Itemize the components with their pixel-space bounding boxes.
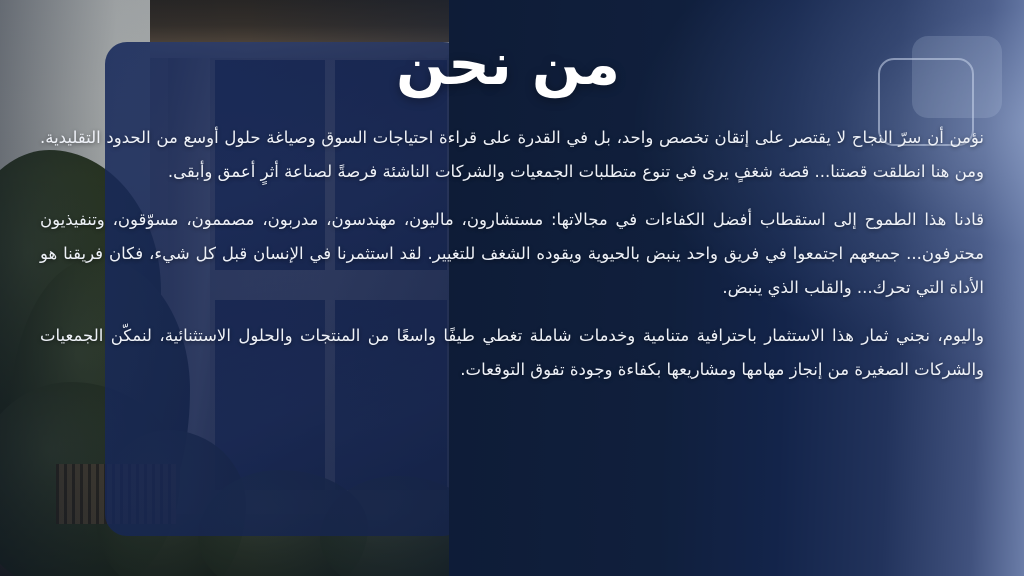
paragraph-3: واليوم، نجني ثمار هذا الاستثمار باحترافي… (40, 319, 984, 387)
paragraph-1: نؤمن أن سرّ النجاح لا يقتصر على إتقان تخ… (40, 121, 984, 189)
slide-content: من نحن نؤمن أن سرّ النجاح لا يقتصر على إ… (0, 0, 1024, 576)
slide-about-us: من نحن نؤمن أن سرّ النجاح لا يقتصر على إ… (0, 0, 1024, 576)
body-copy: نؤمن أن سرّ النجاح لا يقتصر على إتقان تخ… (40, 121, 984, 387)
page-title: من نحن (40, 34, 984, 95)
paragraph-2: قادنا هذا الطموح إلى استقطاب أفضل الكفاء… (40, 203, 984, 305)
